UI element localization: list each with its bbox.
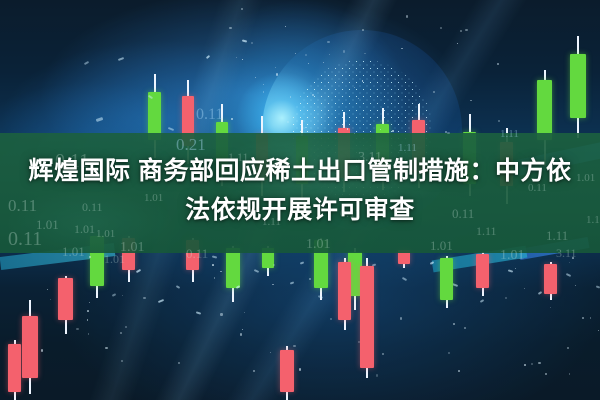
- candlestick-body: [544, 264, 557, 294]
- candlestick-body: [338, 262, 351, 320]
- headline-line-2: 法依规开展许可审查: [0, 191, 600, 230]
- news-banner: 0.110.110.111.011.010.111.011.011.011.01…: [0, 0, 600, 400]
- candlestick-body: [360, 266, 374, 368]
- candlestick-body: [22, 316, 38, 378]
- candlestick-down: [58, 276, 73, 334]
- candlestick-down: [360, 258, 374, 378]
- candlestick-body: [8, 344, 21, 392]
- candlestick-body: [58, 278, 73, 320]
- candlestick-up: [440, 256, 453, 308]
- headline-line-1: 辉煌国际 商务部回应稀土出口管制措施：中方依: [0, 152, 600, 191]
- candlestick-body: [280, 350, 294, 392]
- candlestick-body: [440, 258, 453, 300]
- candlestick-down: [280, 346, 294, 400]
- candlestick-down: [338, 258, 351, 330]
- page-title: 辉煌国际 商务部回应稀土出口管制措施：中方依 法依规开展许可审查: [0, 152, 600, 230]
- candlestick-down: [8, 340, 21, 400]
- candlestick-down: [544, 262, 557, 300]
- candlestick-down: [22, 300, 38, 394]
